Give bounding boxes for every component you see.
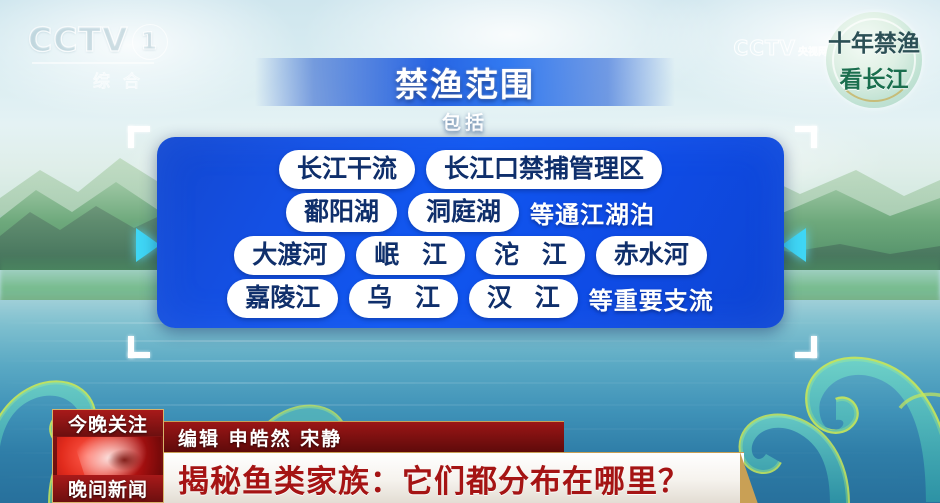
- panel-row: 鄱阳湖 洞庭湖 等通江湖泊: [157, 191, 784, 234]
- cctv-channel-number: 1: [132, 24, 168, 60]
- cctv-watermark-net: 央视网: [798, 47, 828, 58]
- region-pill[interactable]: 大渡河: [234, 236, 345, 275]
- corner-bracket-top-right: [795, 126, 817, 148]
- row-tail-text: 等通江湖泊: [530, 195, 655, 230]
- corner-bracket-bottom-left: [128, 336, 150, 358]
- credit-bar: 编辑 申皓然 宋静: [164, 421, 564, 453]
- headline-text: 揭秘鱼类家族：它们都分布在哪里？: [178, 456, 690, 501]
- page-subtitle: 包括: [255, 108, 675, 135]
- row-tail-text: 等重要支流: [589, 281, 714, 316]
- fishing-ban-scope-panel: 长江干流 长江口禁捕管理区 鄱阳湖 洞庭湖 等通江湖泊 大渡河 岷 江 沱 江 …: [157, 137, 784, 328]
- cctv-logo-subtitle: 综合: [28, 67, 188, 92]
- corner-bracket-top-left: [128, 126, 150, 148]
- cctv-logo-rule: [32, 62, 154, 64]
- program-badge: 今晚关注 晚间新闻: [52, 409, 164, 503]
- badge-bottom-label: 晚间新闻: [53, 475, 163, 502]
- region-pill[interactable]: 洞庭湖: [408, 193, 519, 232]
- cctv1-channel-logo: CCTV1 综合: [28, 22, 188, 84]
- badge-top-label: 今晚关注: [53, 410, 163, 436]
- editor-credit: 编辑 申皓然 宋静: [178, 424, 342, 451]
- cctv-wordmark: CCTV: [28, 20, 129, 59]
- red-globe-icon: [57, 437, 161, 479]
- broadcast-screen: CCTV1 综合 CCTV央视网 十年禁渔 看长江 禁渔范围 包括 长江干流 长…: [0, 0, 940, 503]
- corner-bracket-bottom-right: [795, 336, 817, 358]
- region-pill[interactable]: 赤水河: [596, 236, 707, 275]
- region-pill[interactable]: 汉 江: [469, 279, 578, 318]
- program-logo-line1: 十年禁渔: [826, 24, 922, 58]
- panel-row: 嘉陵江 乌 江 汉 江 等重要支流: [157, 277, 784, 320]
- cctv-logo-text: CCTV1: [28, 22, 188, 60]
- program-logo-line2: 看长江: [826, 60, 922, 94]
- page-title: 禁渔范围: [255, 58, 675, 106]
- region-pill[interactable]: 鄱阳湖: [286, 193, 397, 232]
- program-logo: 十年禁渔 看长江: [826, 12, 922, 108]
- panel-row: 大渡河 岷 江 沱 江 赤水河: [157, 234, 784, 277]
- panel-row: 长江干流 长江口禁捕管理区: [157, 148, 784, 191]
- cctv-watermark-text: CCTV: [734, 36, 796, 60]
- cctv-watermark: CCTV央视网: [734, 36, 828, 60]
- region-pill[interactable]: 岷 江: [356, 236, 465, 275]
- region-pill[interactable]: 长江口禁捕管理区: [426, 150, 662, 189]
- region-pill[interactable]: 乌 江: [349, 279, 458, 318]
- region-pill[interactable]: 沱 江: [476, 236, 585, 275]
- region-pill[interactable]: 嘉陵江: [227, 279, 338, 318]
- headline-bar: 揭秘鱼类家族：它们都分布在哪里？: [164, 452, 744, 503]
- triangle-left-icon: [782, 228, 806, 262]
- region-pill[interactable]: 长江干流: [279, 150, 415, 189]
